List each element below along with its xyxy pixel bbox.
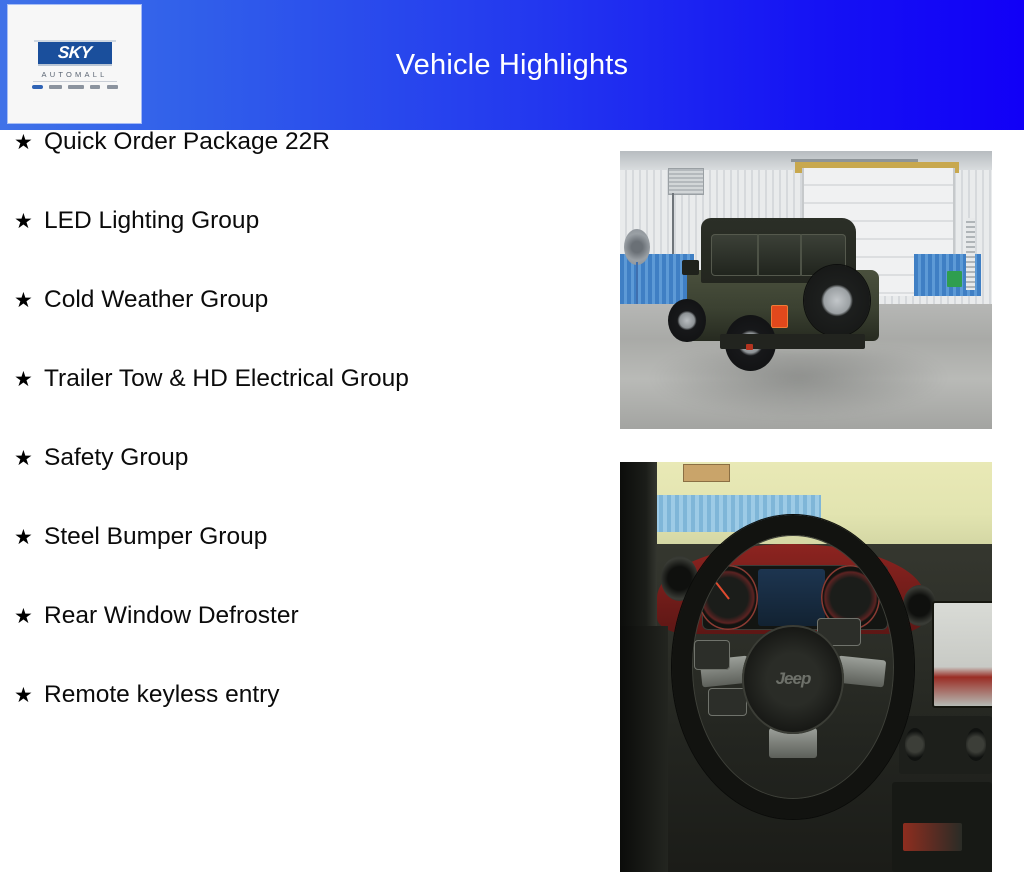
star-bullet-icon: ★ — [14, 685, 44, 706]
list-item: ★ Quick Order Package 22R — [0, 130, 600, 209]
list-item: ★ Trailer Tow & HD Electrical Group — [0, 367, 600, 446]
jeep-wrangler-vehicle — [668, 215, 902, 376]
star-bullet-icon: ★ — [14, 211, 44, 232]
list-item: ★ Cold Weather Group — [0, 288, 600, 367]
dealer-logo[interactable]: SKY AUTOMALL — [8, 5, 141, 123]
brand-badge-ford-icon — [32, 85, 43, 89]
front-wheel — [668, 299, 705, 343]
star-bullet-icon: ★ — [14, 290, 44, 311]
window-divider — [800, 234, 802, 276]
page-header: Vehicle Highlights — [0, 0, 1024, 130]
tail-light — [771, 305, 787, 328]
list-item: ★ Safety Group — [0, 446, 600, 525]
gear-shifter — [903, 823, 963, 852]
highlight-label: Rear Window Defroster — [44, 604, 299, 629]
highlight-label: Remote keyless entry — [44, 683, 280, 708]
logo-sky-text: SKY — [57, 44, 92, 61]
shop-fan-icon — [624, 229, 650, 265]
list-item: ★ Rear Window Defroster — [0, 604, 600, 683]
spare-tire — [804, 265, 870, 336]
driver-door-panel — [620, 626, 668, 872]
bumper-reflector — [746, 344, 753, 350]
brand-badge-dodge-icon — [68, 85, 84, 89]
shop-fan-stand — [636, 262, 638, 306]
list-item: ★ Remote keyless entry — [0, 683, 600, 762]
highlight-label: Cold Weather Group — [44, 288, 268, 313]
highlight-label: Quick Order Package 22R — [44, 130, 330, 155]
brand-badge-jeep-icon — [90, 85, 100, 89]
green-trash-bin — [947, 271, 962, 288]
logo-automall-text: AUTOMALL — [33, 70, 117, 82]
highlight-label: Steel Bumper Group — [44, 525, 267, 550]
rear-bumper — [720, 334, 865, 349]
climate-knob-right[interactable] — [966, 728, 986, 761]
logo-brand-strip — [32, 85, 118, 89]
highlight-label: Safety Group — [44, 446, 188, 471]
ceiling-heater — [668, 168, 703, 195]
page-title: Vehicle Highlights — [0, 0, 1024, 130]
star-bullet-icon: ★ — [14, 369, 44, 390]
list-item: ★ Steel Bumper Group — [0, 525, 600, 604]
window-divider — [757, 234, 759, 276]
side-mirror — [682, 260, 698, 275]
star-bullet-icon: ★ — [14, 606, 44, 627]
windshield-sticker — [683, 464, 730, 482]
steering-wheel: Jeep — [672, 515, 914, 818]
vehicle-highlights-list: ★ Quick Order Package 22R ★ LED Lighting… — [0, 130, 600, 762]
highlight-label: LED Lighting Group — [44, 209, 259, 234]
list-item: ★ LED Lighting Group — [0, 209, 600, 288]
ladder — [966, 218, 975, 290]
jeep-logo-icon: Jeep — [742, 625, 844, 734]
logo-inner: SKY AUTOMALL — [25, 40, 125, 89]
star-bullet-icon: ★ — [14, 132, 44, 153]
star-bullet-icon: ★ — [14, 448, 44, 469]
highlight-label: Trailer Tow & HD Electrical Group — [44, 367, 409, 392]
vehicle-exterior-photo[interactable] — [620, 151, 992, 429]
steering-button-left[interactable] — [694, 640, 730, 670]
star-bullet-icon: ★ — [14, 527, 44, 548]
logo-sky-band: SKY — [38, 40, 112, 66]
content-area: ★ Quick Order Package 22R ★ LED Lighting… — [0, 130, 1024, 768]
vehicle-interior-photo[interactable]: Jeep — [620, 462, 992, 872]
infotainment-screen[interactable] — [932, 601, 992, 708]
airbag-hub: Jeep — [742, 625, 844, 734]
brand-badge-chrysler-icon — [49, 85, 62, 89]
brand-badge-ram-icon — [107, 85, 118, 89]
